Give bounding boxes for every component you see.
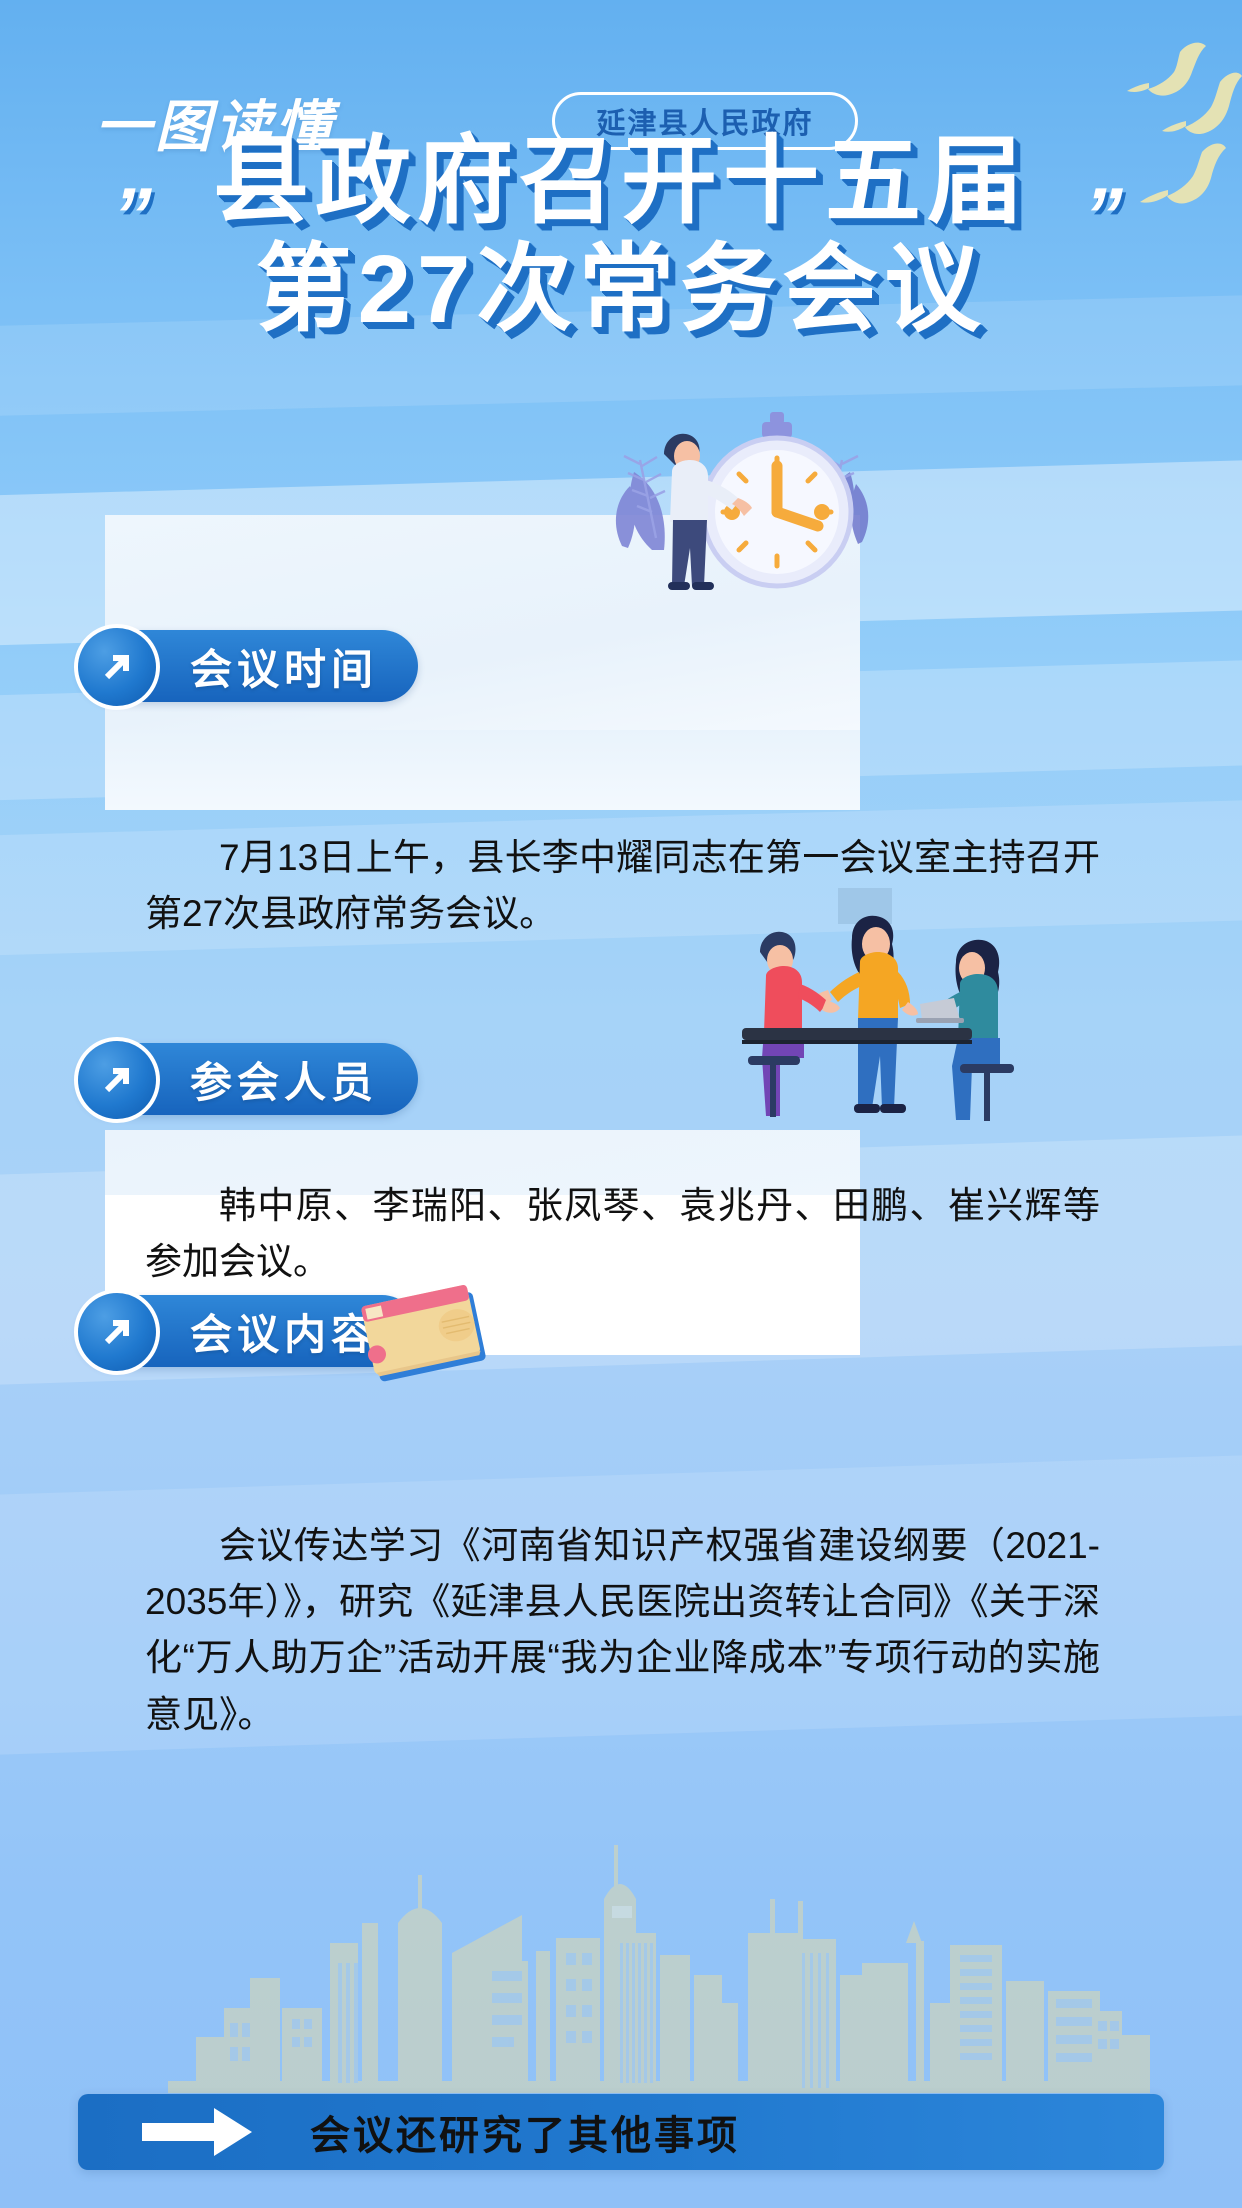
section-label: 会议时间 <box>190 636 378 697</box>
city-skyline-illustration <box>0 1803 1242 2093</box>
meeting-time-body: 7月13日上午，县长李中耀同志在第一会议室主持召开第27次县政府常务会议。 <box>145 830 1100 942</box>
meeting-content-body-text: 会议传达学习《河南省知识产权强省建设纲要（2021-2035年）》，研究《延津县… <box>145 1518 1100 1743</box>
section-header-meeting-time[interactable]: 会议时间 <box>78 630 418 702</box>
infographic-poster: 一图读懂 延津县人民政府 ” 县政府召开十五届 ” 第27次常务会议 <box>0 0 1242 2208</box>
arrow-up-right-icon <box>74 1289 160 1375</box>
title-line-1-text: 县政府召开十五届 <box>213 128 1029 235</box>
meeting-time-body-text: 7月13日上午，县长李中耀同志在第一会议室主持召开第27次县政府常务会议。 <box>145 830 1100 942</box>
content-card-time-tail <box>105 730 860 810</box>
quote-mark-left: ” <box>104 172 168 259</box>
title-line-2: 第27次常务会议 <box>256 236 987 344</box>
arrow-up-right-icon <box>74 1037 160 1123</box>
stopwatch-illustration <box>580 400 880 590</box>
section-label: 参会人员 <box>190 1049 378 1110</box>
attendees-body: 韩中原、李瑞阳、张凤琴、袁兆丹、田鹏、崔兴辉等参加会议。 <box>145 1178 1100 1290</box>
title-line-1: ” 县政府召开十五届 ” <box>213 128 1029 236</box>
quote-mark-right: ” <box>1075 172 1139 259</box>
footer-label: 会议还研究了其他事项 <box>310 2103 740 2161</box>
section-label: 会议内容 <box>190 1301 378 1362</box>
poster-title: ” 县政府召开十五届 ” 第27次常务会议 <box>0 128 1242 343</box>
envelope-illustration <box>360 1280 490 1390</box>
attendees-body-text: 韩中原、李瑞阳、张凤琴、袁兆丹、田鹏、崔兴辉等参加会议。 <box>145 1178 1100 1290</box>
arrow-right-icon <box>140 2105 258 2159</box>
footer-bar[interactable]: 会议还研究了其他事项 <box>78 2094 1164 2170</box>
arrow-up-right-icon <box>74 624 160 710</box>
meeting-content-body: 会议传达学习《河南省知识产权强省建设纲要（2021-2035年）》，研究《延津县… <box>145 1518 1100 1743</box>
section-header-attendees[interactable]: 参会人员 <box>78 1043 418 1115</box>
